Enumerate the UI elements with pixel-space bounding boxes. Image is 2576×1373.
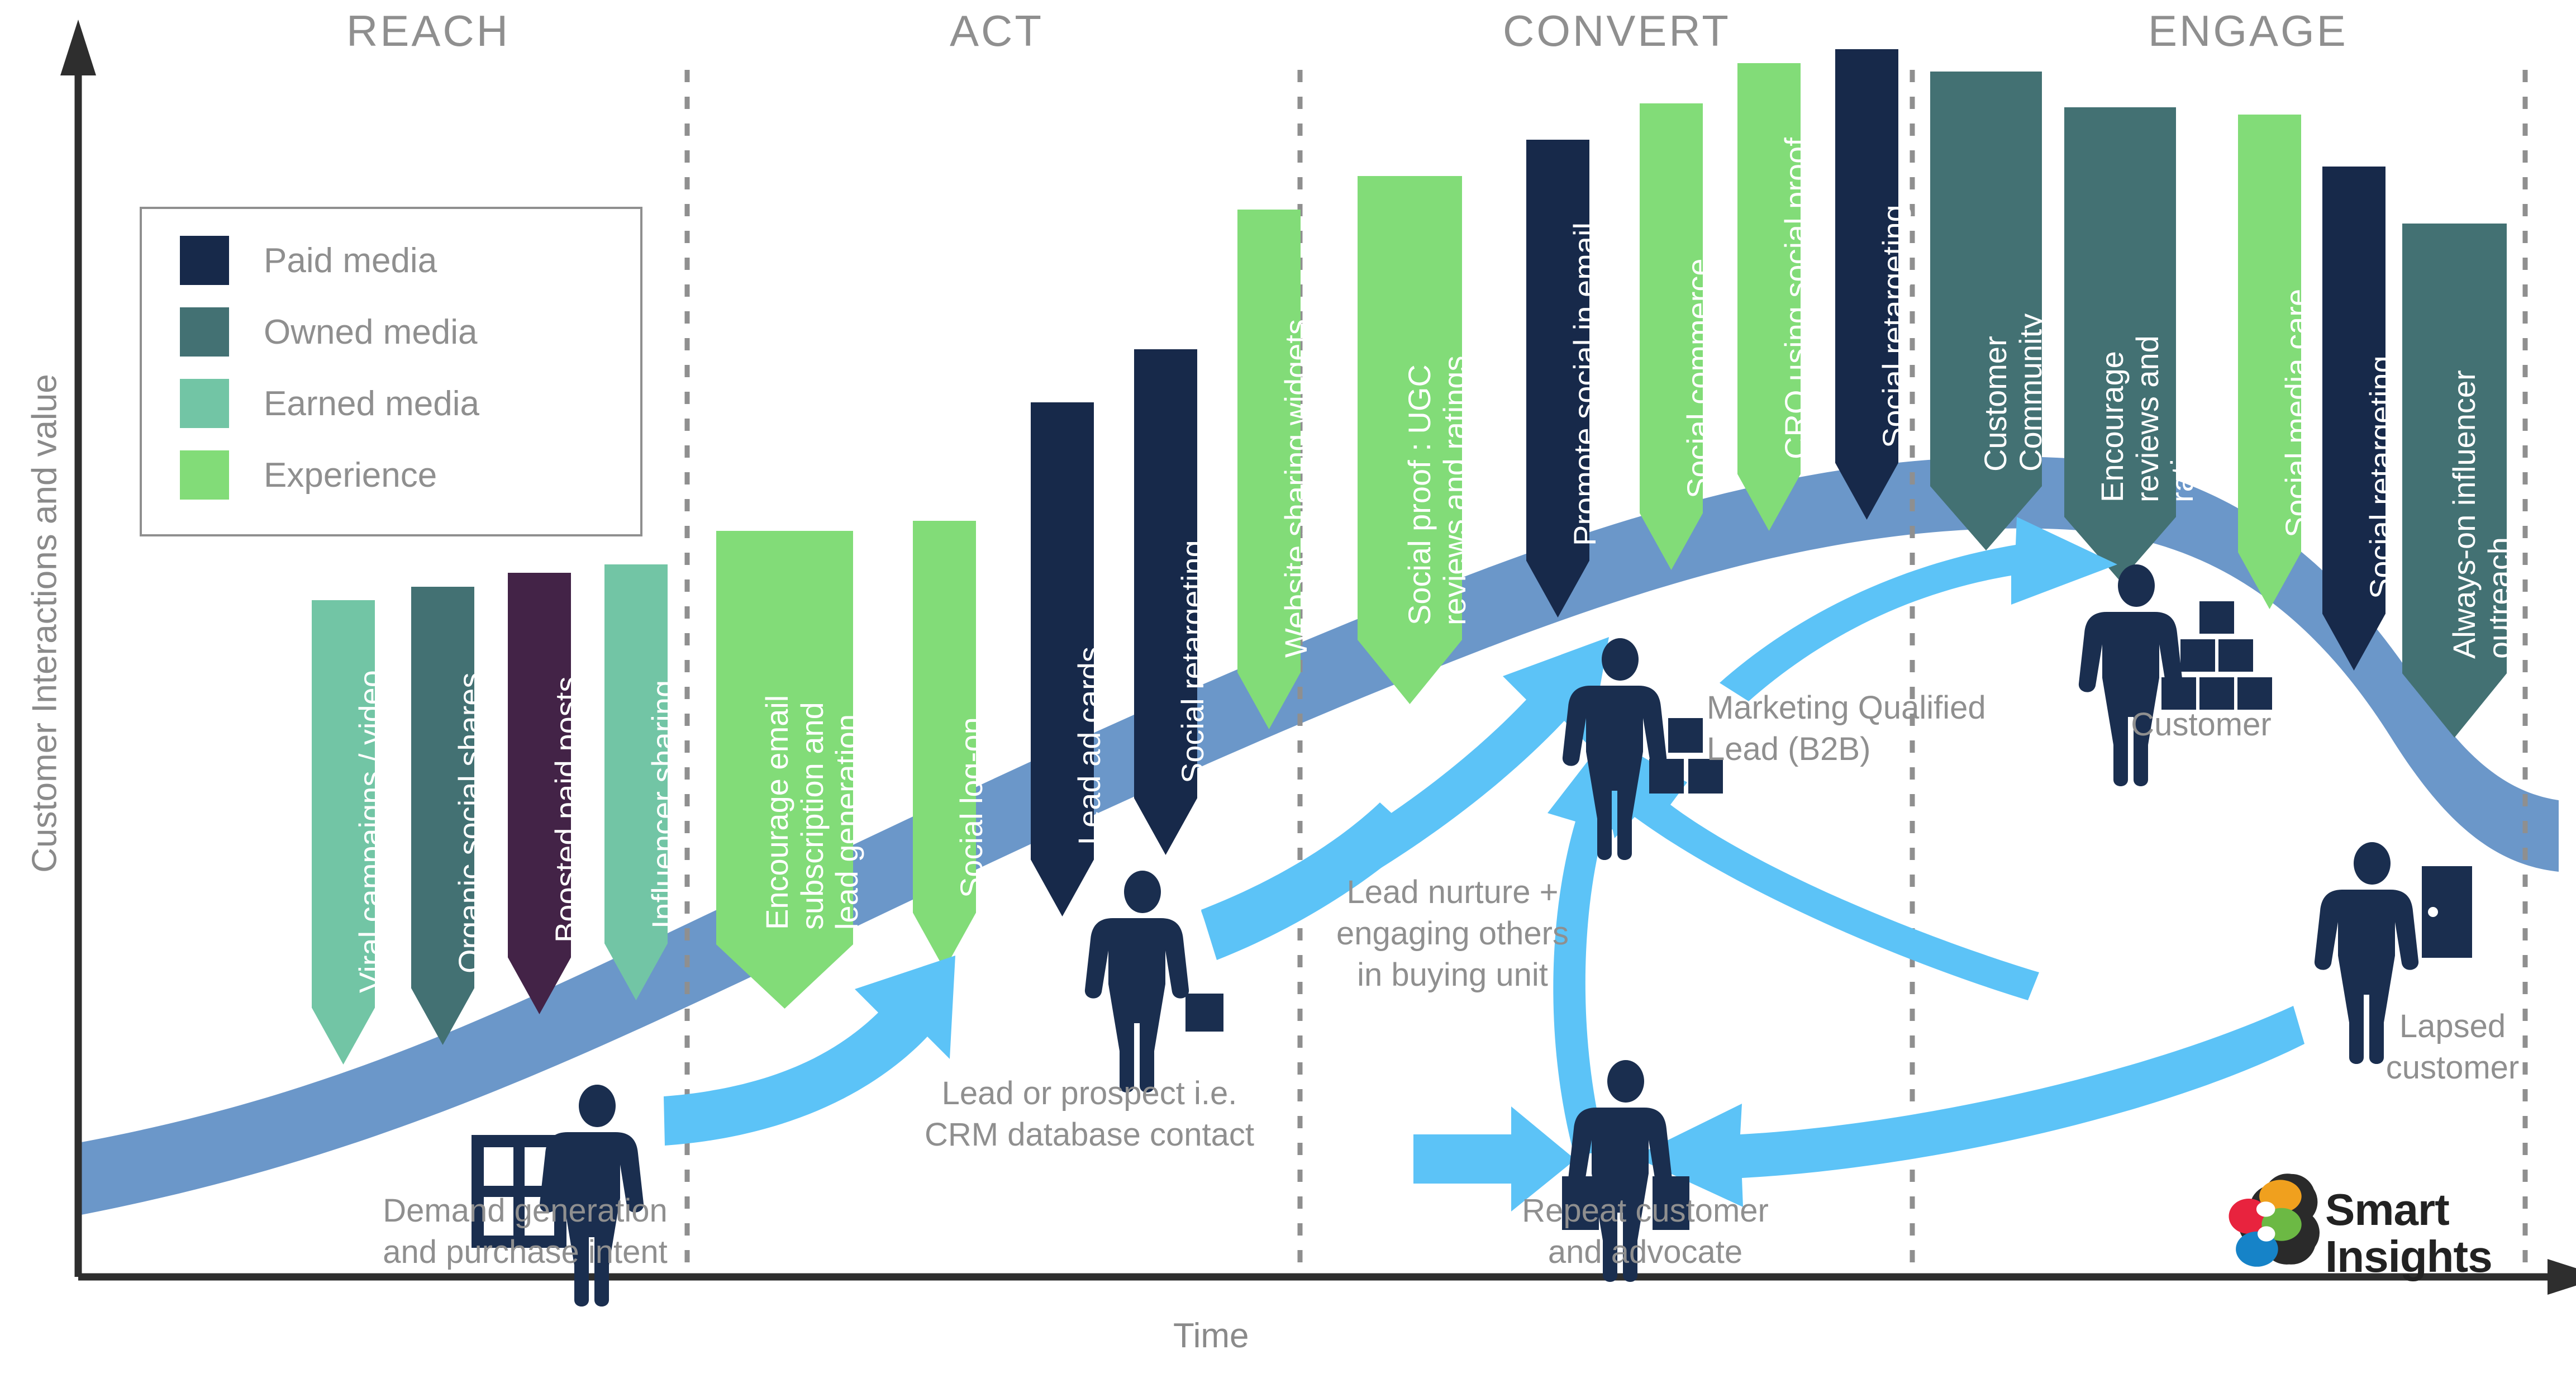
stage-title-engage: ENGAGE (2148, 6, 2348, 56)
entity-label-lead-prospect: Lead or prospect i.e. CRM database conta… (899, 1073, 1279, 1156)
stage-title-convert: CONVERT (1503, 6, 1731, 56)
legend-label-earned-media: Earned media (264, 384, 479, 424)
activity-arrow-label: Social retargeting (1175, 357, 1211, 783)
person-with-box-icon (1085, 871, 1223, 1092)
legend-item-experience: Experience (180, 450, 437, 500)
activity-arrow-label: Boosted paid posts (549, 581, 584, 943)
activity-arrow-label: Social media care (2279, 122, 2315, 538)
activity-arrow-label: Website sharing widgets (1279, 217, 1314, 658)
stage-title-reach: REACH (346, 6, 510, 56)
brand-name-line2: Insights (2325, 1236, 2492, 1277)
activity-arrow-label: Influencer sharing (646, 572, 681, 929)
legend-swatch-paid-media (180, 236, 229, 285)
legend-swatch-experience (180, 450, 229, 500)
entity-label-customer: Customer (2106, 704, 2296, 745)
activity-arrow-label: Social retargeting (1877, 57, 1912, 448)
activity-arrow-label: Customer Community (1978, 79, 2048, 472)
y-axis-label: Customer Interactions and value (25, 344, 65, 903)
activity-arrow-label: Social log-on (954, 529, 989, 898)
x-axis-label: Time (1173, 1316, 1249, 1356)
activity-arrow-label: Encourage email subscription and lead ge… (760, 539, 865, 930)
lifecycle-diagram: REACH ACT CONVERT ENGAGE Customer Intera… (0, 0, 2576, 1373)
activity-arrow-label: Promote social in email (1568, 148, 1603, 546)
legend-label-paid-media: Paid media (264, 241, 437, 281)
flow-arrow-lapsed-to-repeat (1634, 1006, 2304, 1207)
media-type-legend: Paid media Owned media Earned media Expe… (140, 207, 642, 536)
activity-arrow-label: Encourage reviews and ratings (2095, 115, 2200, 502)
legend-label-experience: Experience (264, 455, 437, 495)
entity-label-mql: Marketing Qualified Lead (B2B) (1707, 687, 2053, 770)
activity-arrow-label: Social commerce (1681, 111, 1716, 498)
activity-arrow-label: Lead ad cards (1072, 410, 1107, 845)
activity-arrow-label: CRO using social proof (1779, 71, 1814, 459)
legend-item-paid-media: Paid media (180, 236, 437, 285)
stage-title-act: ACT (950, 6, 1044, 56)
legend-item-owned-media: Owned media (180, 307, 478, 357)
entity-label-repeat-customer: Repeat customer and advocate (1480, 1190, 1810, 1273)
legend-swatch-owned-media (180, 307, 229, 357)
brand-name-line1: Smart (2325, 1189, 2449, 1231)
entity-label-lapsed-customer: Lapsed customer (2346, 1006, 2559, 1089)
activity-arrow-label: Viral campaigns / video (353, 608, 388, 993)
annotation-lead-nurture: Lead nurture + engaging others in buying… (1307, 872, 1598, 996)
entity-label-demand-generation: Demand generation and purchase intent (346, 1190, 704, 1273)
smart-insights-logo-icon (2229, 1174, 2320, 1267)
activity-arrow-label: Always-on influencer outreach (2447, 231, 2517, 659)
activity-arrow-label: Organic social shares (453, 595, 488, 973)
legend-item-earned-media: Earned media (180, 379, 479, 428)
activity-arrow-label: Social retargeting (2364, 174, 2399, 599)
legend-swatch-earned-media (180, 379, 229, 428)
activity-arrow-label: Social proof : UGC reviews and ratings (1402, 184, 1472, 625)
legend-label-owned-media: Owned media (264, 312, 478, 352)
person-with-boxes-6-icon (2079, 564, 2272, 786)
